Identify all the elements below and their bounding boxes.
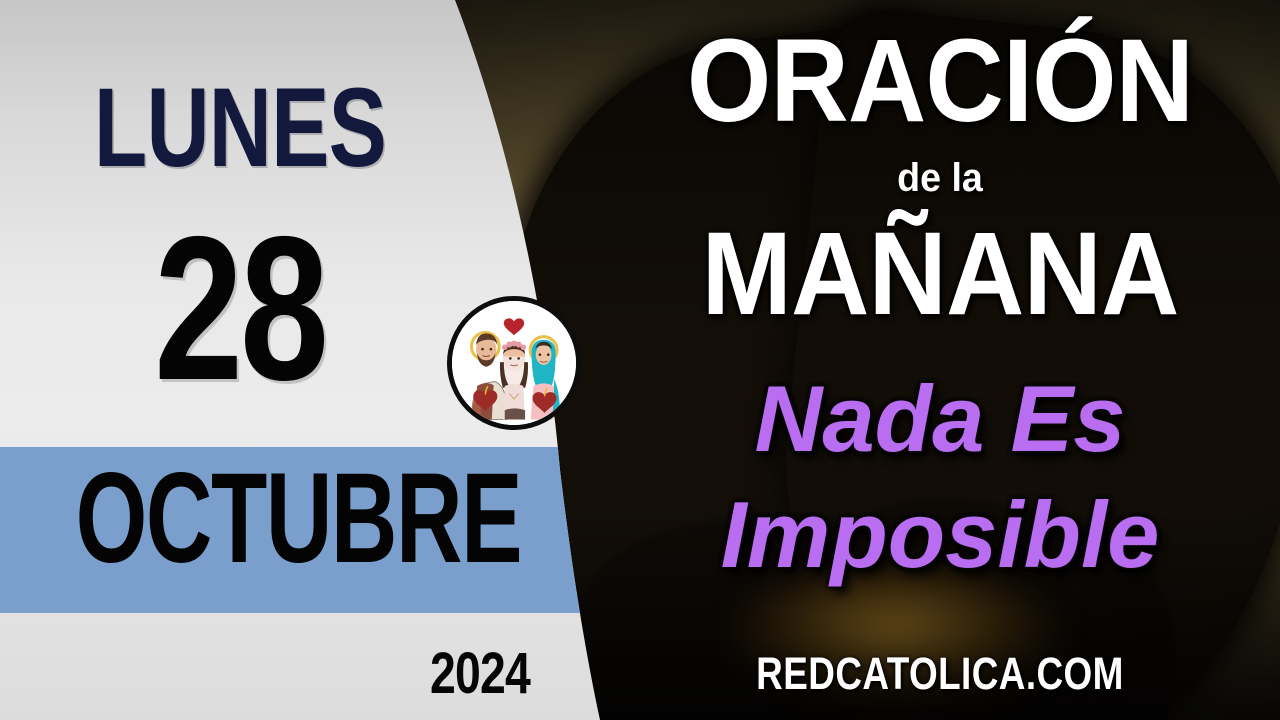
subtitle-line-2: Imposible xyxy=(600,488,1280,582)
month-label: OCTUBRE xyxy=(76,455,465,583)
headline-manana: MAÑANA xyxy=(627,215,1253,333)
subtitle-line-1: Nada Es xyxy=(600,372,1280,466)
headline-column: ORACIÓN de la MAÑANA Nada Es Imposible R… xyxy=(600,0,1280,720)
year-label: 2024 xyxy=(430,645,590,703)
day-number: 28 xyxy=(53,215,427,404)
site-watermark: REDCATOLICA.COM xyxy=(661,651,1219,696)
holy-family-icon xyxy=(447,296,581,430)
headline-oracion: ORACIÓN xyxy=(627,22,1253,140)
headline-de-la: de la xyxy=(620,158,1259,198)
thumbnail-canvas: LUNES 28 OCTUBRE 2024 xyxy=(0,0,1280,720)
weekday-label: LUNES xyxy=(53,76,427,179)
